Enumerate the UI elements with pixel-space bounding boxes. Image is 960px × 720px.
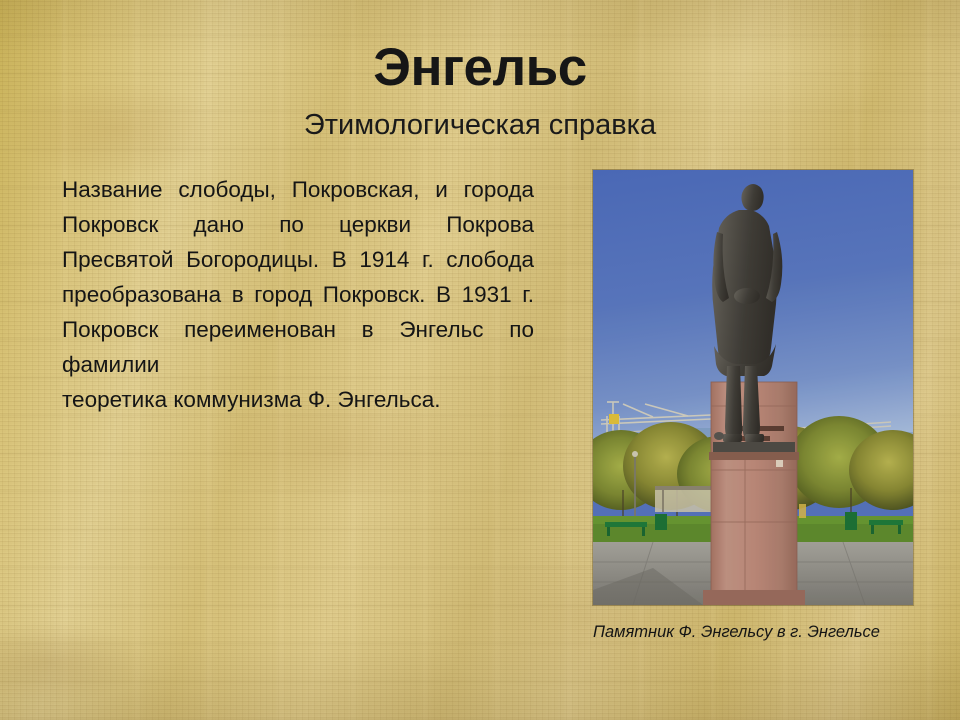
page-subtitle: Этимологическая справка (0, 108, 960, 143)
monument-photo-graphic (593, 170, 913, 605)
page-title: Энгельс (0, 40, 960, 96)
body-paragraph: Название слободы, Покровская, и города П… (62, 172, 534, 417)
body-paragraph-main: Название слободы, Покровская, и города П… (62, 177, 534, 377)
slide-canvas: Энгельс Этимологическая справка Название… (0, 0, 960, 720)
monument-photo (593, 170, 913, 605)
body-paragraph-last-line: теоретика коммунизма Ф. Энгельса. (62, 382, 534, 417)
photo-caption: Памятник Ф. Энгельсу в г. Энгельсе (560, 622, 913, 643)
photo-grain (593, 170, 913, 605)
